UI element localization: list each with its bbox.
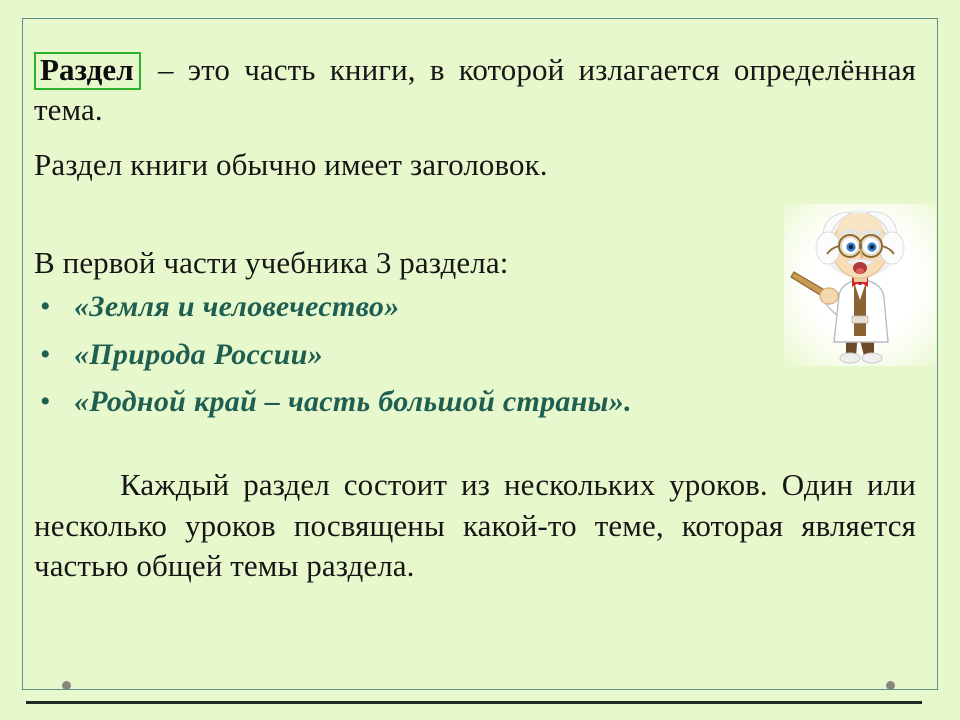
section-label: «Природа России»: [74, 337, 323, 372]
intro-paragraph: Раздел – это часть книги, в которой изла…: [34, 50, 916, 131]
decorative-dot-left: [62, 681, 71, 690]
decorative-dot-right: [886, 681, 895, 690]
keyword-highlight-box: Раздел: [34, 52, 141, 90]
professor-illustration: [784, 204, 936, 366]
bullet-icon: •: [40, 340, 74, 370]
final-paragraph: Каждый раздел состоит из нескольких урок…: [34, 465, 916, 586]
list-item: • «Родной край – часть большой страны».: [34, 384, 916, 419]
slide: Раздел – это часть книги, в которой изла…: [0, 0, 960, 720]
heading-note-paragraph: Раздел книги обычно имеет заголовок.: [34, 145, 916, 185]
section-label: «Земля и человечество»: [74, 289, 400, 324]
section-label: «Родной край – часть большой страны».: [74, 384, 632, 419]
bullet-icon: •: [40, 292, 74, 322]
intro-paragraph-rest: – это часть книги, в которой излагается …: [34, 52, 916, 127]
bullet-icon: •: [40, 387, 74, 417]
professor-with-pointer-icon: [784, 204, 936, 366]
bottom-rule: [26, 701, 922, 704]
